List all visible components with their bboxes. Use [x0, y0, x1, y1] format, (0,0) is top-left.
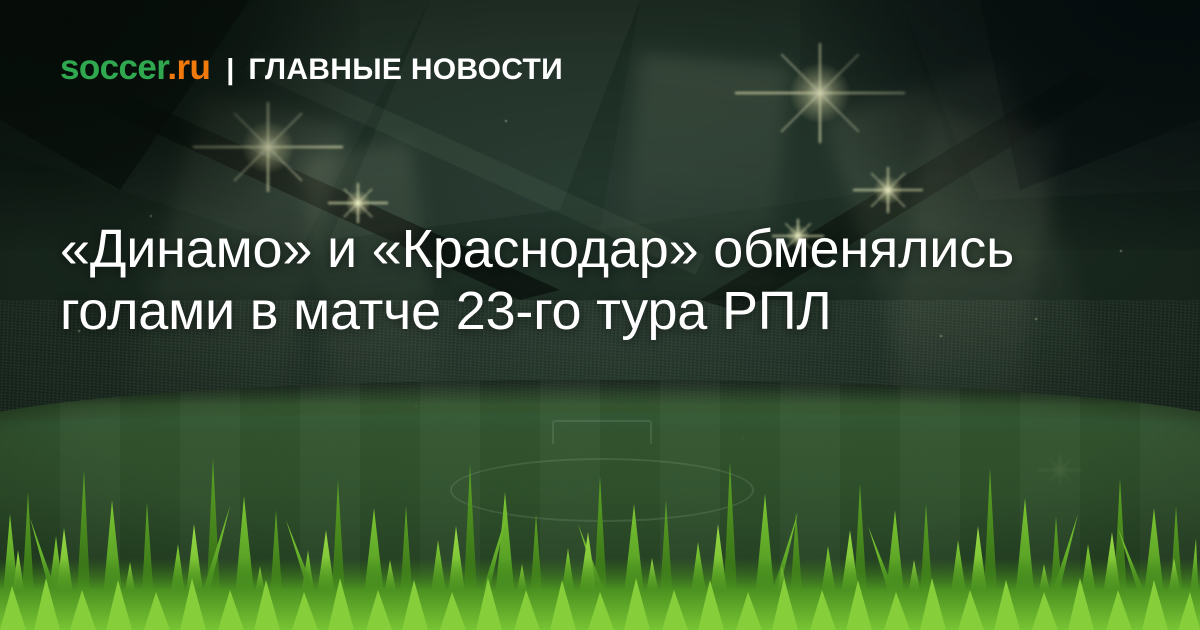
page-title: «Динамо» и «Краснодар» обменялись голами…	[60, 218, 1070, 342]
grass-foreground	[0, 440, 1200, 630]
corner-shadow-right	[800, 0, 1200, 250]
site-logo[interactable]: soccer.ru	[60, 50, 210, 85]
header-brand-bar: soccer.ru | ГЛАВНЫЕ НОВОСТИ	[60, 50, 563, 85]
site-logo-name: soccer	[60, 48, 167, 87]
site-logo-tld: .ru	[167, 48, 210, 87]
corner-shadow-left	[0, 0, 360, 250]
news-share-card: soccer.ru | ГЛАВНЫЕ НОВОСТИ «Динамо» и «…	[0, 0, 1200, 630]
header-kicker-label: ГЛАВНЫЕ НОВОСТИ	[248, 55, 563, 85]
header-divider: |	[226, 56, 234, 85]
